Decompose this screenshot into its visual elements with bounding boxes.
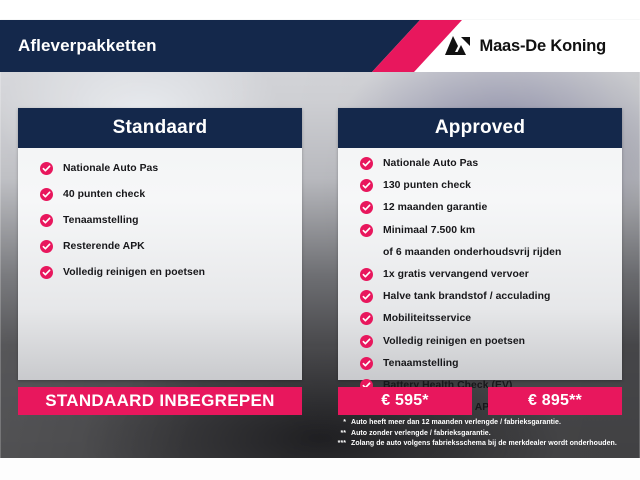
feature-label: of 6 maanden onderhoudsvrij rijden — [383, 246, 561, 259]
slide-root: Afleverpakketten Maas-De Koning Standaar… — [0, 0, 640, 480]
check-circle-icon — [360, 224, 373, 237]
feature-item: Resterende APK — [18, 240, 302, 253]
page-title: Afleverpakketten — [18, 20, 157, 72]
footnote-list: * Auto heeft meer dan 12 maanden verleng… — [330, 419, 636, 451]
feature-label: Mobiliteitsservice — [383, 312, 471, 325]
feature-label: Minimaal 7.500 km — [383, 224, 475, 237]
feature-label: Volledig reinigen en poetsen — [63, 266, 205, 279]
package-card-standaard: Standaard Nationale Auto Pas 40 punten c… — [18, 108, 302, 380]
check-circle-icon — [40, 240, 53, 253]
check-circle-icon — [360, 201, 373, 214]
feature-list-standaard: Nationale Auto Pas 40 punten check Tenaa… — [18, 148, 302, 279]
brand-name: Maas-De Koning — [480, 37, 606, 56]
feature-label: Resterende APK — [63, 240, 145, 253]
footnote-text: Auto heeft meer dan 12 maanden verlengde… — [351, 419, 561, 426]
feature-item: 12 maanden garantie — [338, 201, 622, 214]
footnote-marker: *** — [330, 440, 346, 447]
feature-item: Nationale Auto Pas — [338, 157, 622, 170]
package-card-approved: Approved Nationale Auto Pas 130 punten c… — [338, 108, 622, 380]
check-circle-icon — [360, 268, 373, 281]
footnote-text: Auto zonder verlengde / fabrieksgarantie… — [351, 430, 491, 437]
feature-item: Mobiliteitsservice — [338, 312, 622, 325]
feature-item-subline: of 6 maanden onderhoudsvrij rijden — [338, 246, 622, 259]
feature-item: 130 punten check — [338, 179, 622, 192]
standard-included-banner: STANDAARD INBEGREPEN — [18, 387, 302, 415]
feature-item: 1x gratis vervangend vervoer — [338, 268, 622, 281]
price-label: € 895** — [528, 392, 582, 410]
footnote-text: Zolang de auto volgens fabrieksschema bi… — [351, 440, 617, 447]
check-circle-icon — [360, 157, 373, 170]
feature-label: Tenaamstelling — [383, 357, 459, 370]
package-title: Standaard — [113, 117, 208, 139]
standard-included-label: STANDAARD INBEGREPEN — [45, 391, 275, 411]
check-circle-icon — [40, 162, 53, 175]
check-circle-icon — [360, 312, 373, 325]
package-header-approved: Approved — [338, 108, 622, 148]
bottom-white-strip — [0, 458, 640, 480]
feature-label: Volledig reinigen en poetsen — [383, 335, 525, 348]
feature-label: 12 maanden garantie — [383, 201, 487, 214]
footnote-marker: ** — [330, 430, 346, 437]
feature-item: Nationale Auto Pas — [18, 162, 302, 175]
price-badge-approved: € 895** — [488, 387, 622, 415]
feature-label: Halve tank brandstof / acculading — [383, 290, 550, 303]
feature-label: 40 punten check — [63, 188, 145, 201]
feature-list-approved: Nationale Auto Pas 130 punten check 12 m… — [338, 148, 622, 414]
feature-item: Volledig reinigen en poetsen — [18, 266, 302, 279]
check-circle-icon — [40, 214, 53, 227]
package-header-standaard: Standaard — [18, 108, 302, 148]
footnote-item: * Auto heeft meer dan 12 maanden verleng… — [330, 419, 636, 426]
check-circle-icon — [40, 188, 53, 201]
check-circle-icon — [40, 266, 53, 279]
feature-item: Halve tank brandstof / acculading — [338, 290, 622, 303]
feature-label: Nationale Auto Pas — [383, 157, 478, 170]
header-bar: Afleverpakketten Maas-De Koning — [0, 20, 640, 72]
footnote-item: ** Auto zonder verlengde / fabrieksgaran… — [330, 430, 636, 437]
feature-label: 1x gratis vervangend vervoer — [383, 268, 529, 281]
feature-item: Tenaamstelling — [18, 214, 302, 227]
feature-item: Volledig reinigen en poetsen — [338, 335, 622, 348]
feature-label: 130 punten check — [383, 179, 471, 192]
check-circle-icon — [360, 179, 373, 192]
check-circle-icon — [360, 357, 373, 370]
feature-item: 40 punten check — [18, 188, 302, 201]
price-label: € 595* — [381, 392, 428, 410]
check-circle-icon — [360, 335, 373, 348]
footnote-item: *** Zolang de auto volgens fabrieksschem… — [330, 440, 636, 447]
brand-lockup: Maas-De Koning — [444, 20, 606, 72]
maas-de-koning-m-logo-icon — [444, 35, 471, 57]
price-badge-standaard: € 595* — [338, 387, 472, 415]
feature-item: Tenaamstelling — [338, 357, 622, 370]
package-title: Approved — [435, 117, 525, 139]
feature-item: Minimaal 7.500 km — [338, 224, 622, 237]
footnote-marker: * — [330, 419, 346, 426]
feature-label: Tenaamstelling — [63, 214, 139, 227]
check-circle-icon — [360, 290, 373, 303]
feature-label: Nationale Auto Pas — [63, 162, 158, 175]
